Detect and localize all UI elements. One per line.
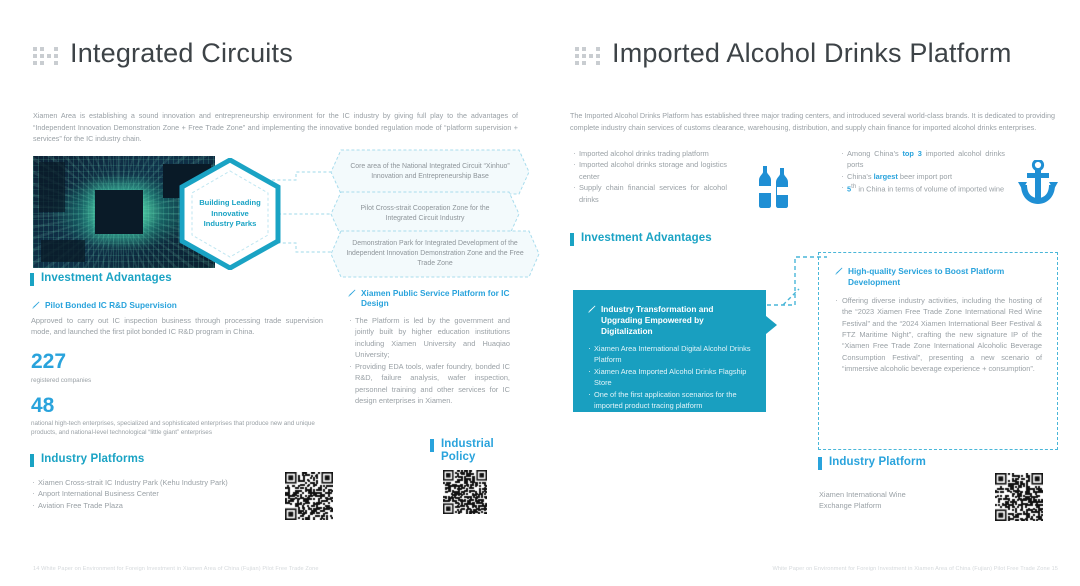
right-footer: White Paper on Environment for Foreign I… bbox=[772, 566, 1058, 572]
pen-nib-icon bbox=[587, 305, 596, 314]
heading-bar bbox=[30, 273, 34, 286]
hexagon-label: Building Leading Innovative Industry Par… bbox=[178, 158, 282, 270]
heading-text: Investment Advantages bbox=[41, 272, 172, 285]
sub-heading-pilot-bonded: Pilot Bonded IC R&D Supervision bbox=[31, 300, 321, 310]
list-item: The Platform is led by the government an… bbox=[348, 315, 510, 361]
anchor-icon bbox=[1018, 160, 1058, 206]
left-investment-advantages-heading: Investment Advantages bbox=[30, 272, 172, 286]
industry-platforms-heading: Industry Platforms bbox=[30, 453, 144, 467]
heading-text: Industry Platforms bbox=[41, 453, 144, 466]
heading-bar bbox=[30, 454, 34, 467]
pen-nib-icon bbox=[347, 289, 356, 298]
sub-heading-public-service-platform: Xiamen Public Service Platform for IC De… bbox=[347, 288, 512, 309]
node-1-text: Core area of the National Integrated Cir… bbox=[330, 149, 530, 195]
high-quality-services-box: High-quality Services to Boost Platform … bbox=[818, 252, 1058, 450]
right-bullets-left: Imported alcohol drinks trading platform… bbox=[572, 148, 727, 205]
heading-bar bbox=[570, 233, 574, 246]
list-item: Imported alcohol drinks trading platform bbox=[572, 148, 727, 159]
left-footer: 14 White Paper on Environment for Foreig… bbox=[33, 566, 319, 572]
callout-heading-text: Industry Transformation and Upgrading Em… bbox=[601, 304, 752, 336]
list-item: One of the first application scenarios f… bbox=[587, 389, 752, 411]
right-page-title-row: Imported Alcohol Drinks Platform Importe… bbox=[575, 40, 1012, 67]
heading-text: Industry Platform bbox=[829, 456, 926, 469]
stat-227-label: registered companies bbox=[31, 376, 321, 385]
heading-bar bbox=[430, 439, 434, 452]
page-title: Imported Alcohol Drinks Platform bbox=[612, 38, 1012, 68]
dot-grid-icon bbox=[575, 47, 600, 65]
list-item: Aviation Free Trade Plaza bbox=[31, 500, 281, 511]
stat-48-value: 48 bbox=[31, 395, 54, 416]
list-item: Offering diverse industry activities, in… bbox=[834, 295, 1042, 375]
pen-nib-icon bbox=[834, 267, 843, 276]
callout-bullet-list: Xiamen Area International Digital Alcoho… bbox=[587, 343, 752, 411]
hexagon-label-line-3: Industry Parks bbox=[204, 219, 257, 230]
industry-platforms-list: Xiamen Cross-strait IC Industry Park (Ke… bbox=[31, 477, 281, 511]
heading-text: Investment Advantages bbox=[581, 232, 712, 245]
hexagon-label-line-1: Building Leading bbox=[199, 198, 261, 209]
hexagon-label-line-2: Innovative bbox=[211, 209, 249, 220]
stat-48-label: national high-tech enterprises, speciali… bbox=[31, 419, 327, 438]
wine-bottles-icon bbox=[755, 166, 795, 208]
list-item: China’s largest beer import port bbox=[840, 171, 1005, 182]
callout-pointer bbox=[766, 316, 777, 334]
right-investment-advantages-heading: Investment Advantages bbox=[570, 232, 712, 246]
qr-code-wine-platform[interactable] bbox=[995, 473, 1043, 521]
sub-heading-text: Pilot Bonded IC R&D Supervision bbox=[45, 300, 177, 310]
callout-heading: Industry Transformation and Upgrading Em… bbox=[587, 304, 752, 336]
dashbox-bullet-list: Offering diverse industry activities, in… bbox=[834, 295, 1042, 375]
list-item: Imported alcohol drinks storage and logi… bbox=[572, 159, 727, 182]
heading-text: Industrial Policy bbox=[441, 438, 525, 465]
list-item: Xiamen Cross-strait IC Industry Park (Ke… bbox=[31, 477, 281, 488]
qr-code-industry-platforms[interactable] bbox=[285, 472, 333, 520]
dashbox-heading: High-quality Services to Boost Platform … bbox=[834, 266, 1042, 288]
industry-transformation-callout: Industry Transformation and Upgrading Em… bbox=[573, 290, 766, 412]
sub-heading-text: Xiamen Public Service Platform for IC De… bbox=[361, 288, 512, 309]
pen-nib-icon bbox=[31, 301, 40, 310]
sub1-body: Approved to carry out IC inspection busi… bbox=[31, 315, 323, 338]
right-intro-text: The Imported Alcohol Drinks Platform has… bbox=[570, 110, 1055, 133]
node-3-text: Demonstration Park for Integrated Develo… bbox=[330, 230, 540, 278]
sub2-bullet-list: The Platform is led by the government an… bbox=[348, 315, 510, 407]
list-item: Providing EDA tools, wafer foundry, bond… bbox=[348, 361, 510, 407]
list-item: Supply chain financial services for alco… bbox=[572, 182, 727, 205]
hexagon-building-leading-industry-parks: Building Leading Innovative Industry Par… bbox=[178, 158, 282, 270]
list-item: Xiamen Area International Digital Alcoho… bbox=[587, 343, 752, 365]
list-item: Among China’s top 3 imported alcohol dri… bbox=[840, 148, 1005, 171]
heading-bar bbox=[818, 457, 822, 470]
list-item: 5th in China in terms of volume of impor… bbox=[840, 182, 1005, 195]
list-item: Xiamen Area Imported Alcohol Drinks Flag… bbox=[587, 366, 752, 388]
right-bullets-right: Among China’s top 3 imported alcohol dri… bbox=[840, 148, 1005, 195]
right-industry-platform-heading: Industry Platform bbox=[818, 456, 926, 470]
list-item: Anport International Business Center bbox=[31, 488, 281, 499]
page-left: Integrated Circuits Integrated Circuits … bbox=[0, 0, 540, 586]
stat-227-value: 227 bbox=[31, 351, 66, 372]
qr-code-industrial-policy[interactable] bbox=[443, 470, 487, 514]
industrial-policy-heading: Industrial Policy bbox=[430, 438, 525, 465]
platform-name: Xiamen International Wine Exchange Platf… bbox=[819, 489, 959, 512]
dashbox-heading-text: High-quality Services to Boost Platform … bbox=[848, 266, 1042, 288]
page-right: Imported Alcohol Drinks Platform Importe… bbox=[540, 0, 1080, 586]
